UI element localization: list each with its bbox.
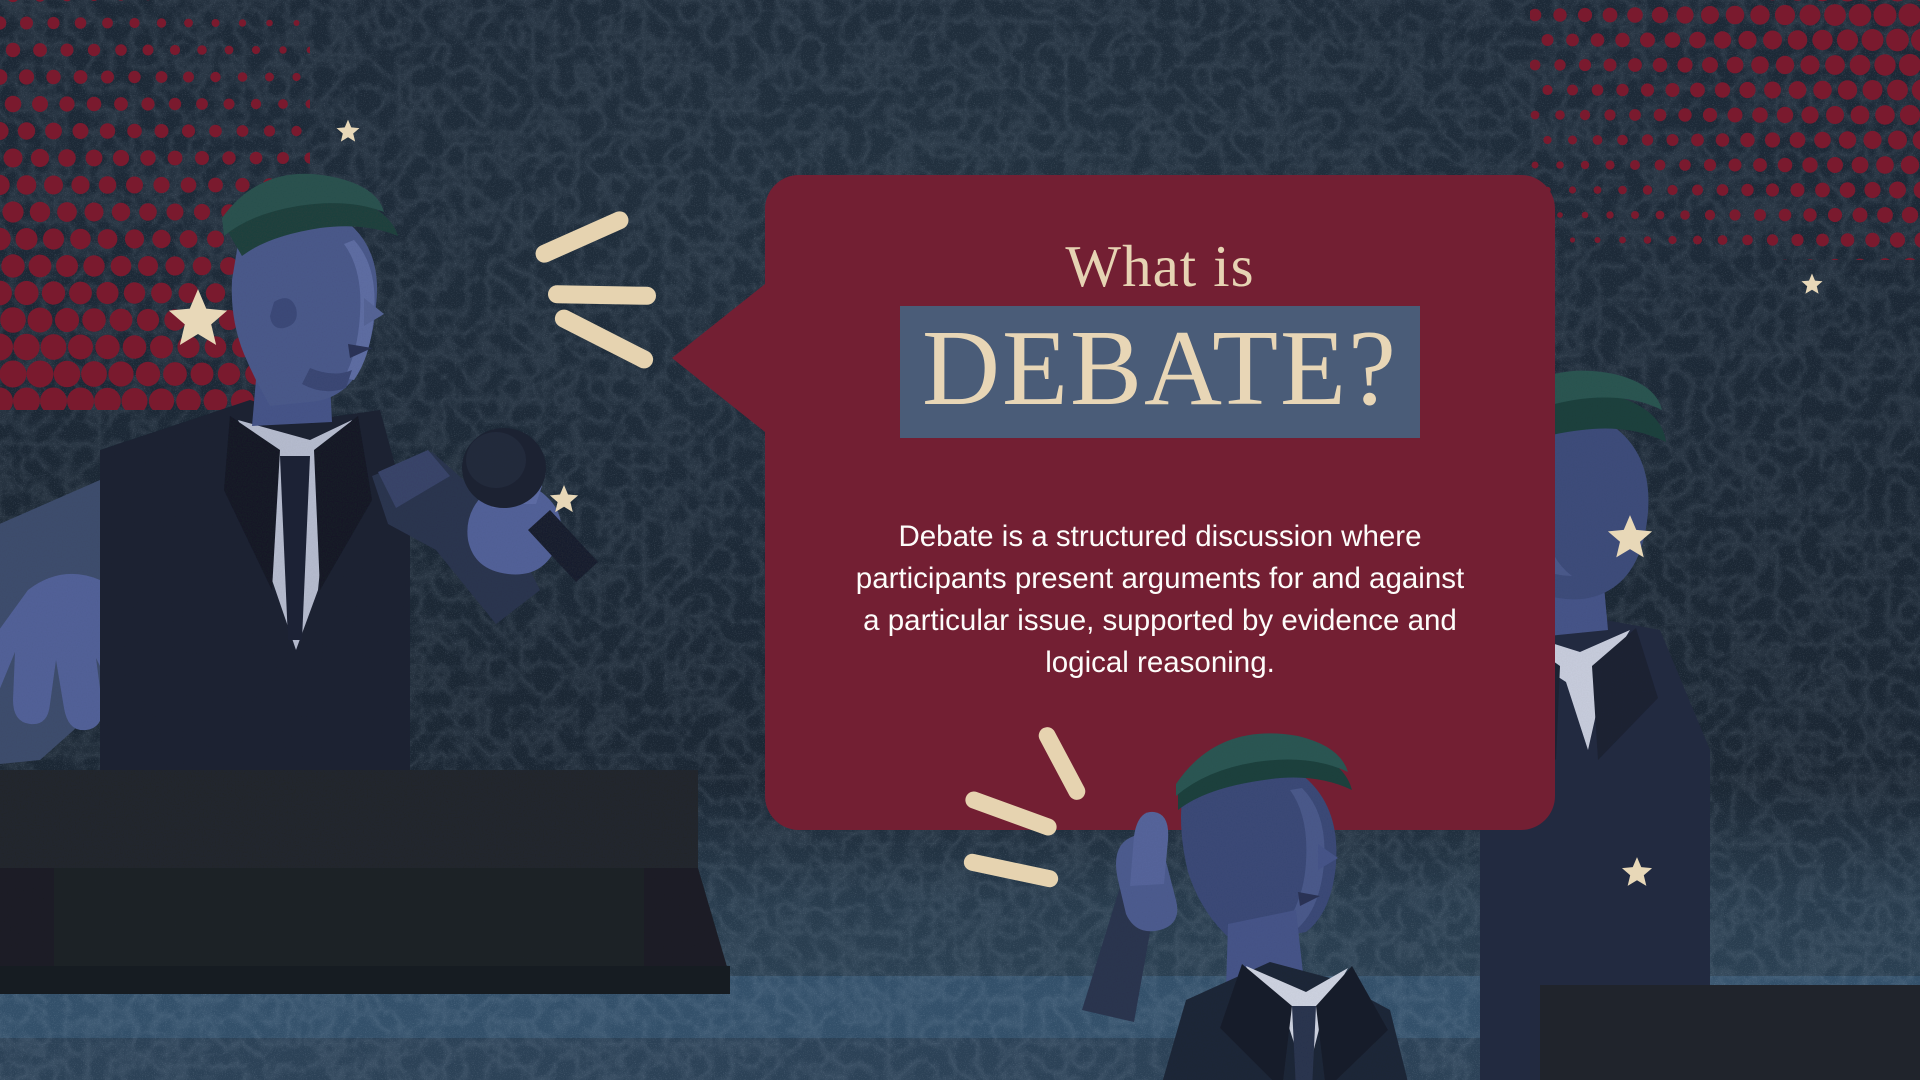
right-desk	[1540, 985, 1920, 1080]
bottom-figure-pointing	[1030, 710, 1490, 1080]
kicker-word-what: What	[1065, 233, 1197, 299]
emphasis-dash-left-2	[548, 285, 656, 305]
podium	[0, 760, 730, 1080]
title-highlight-box: DEBATE?	[900, 306, 1420, 438]
body-paragraph: Debate is a structured discussion where …	[850, 516, 1470, 684]
slide-canvas: Whatis DEBATE? Debate is a structured di…	[0, 0, 1920, 1080]
speech-bubble-tail	[672, 280, 770, 436]
star-top-right-small-icon	[1800, 272, 1824, 296]
star-right-lower-icon	[1620, 855, 1654, 889]
kicker-word-is: is	[1213, 233, 1254, 299]
heading-kicker: Whatis	[1065, 237, 1254, 296]
page-title: DEBATE?	[922, 314, 1398, 424]
star-mid-left-small-icon	[548, 483, 580, 515]
halftone-top-right-icon	[1530, 0, 1920, 260]
star-right-mid-icon	[1605, 512, 1655, 562]
